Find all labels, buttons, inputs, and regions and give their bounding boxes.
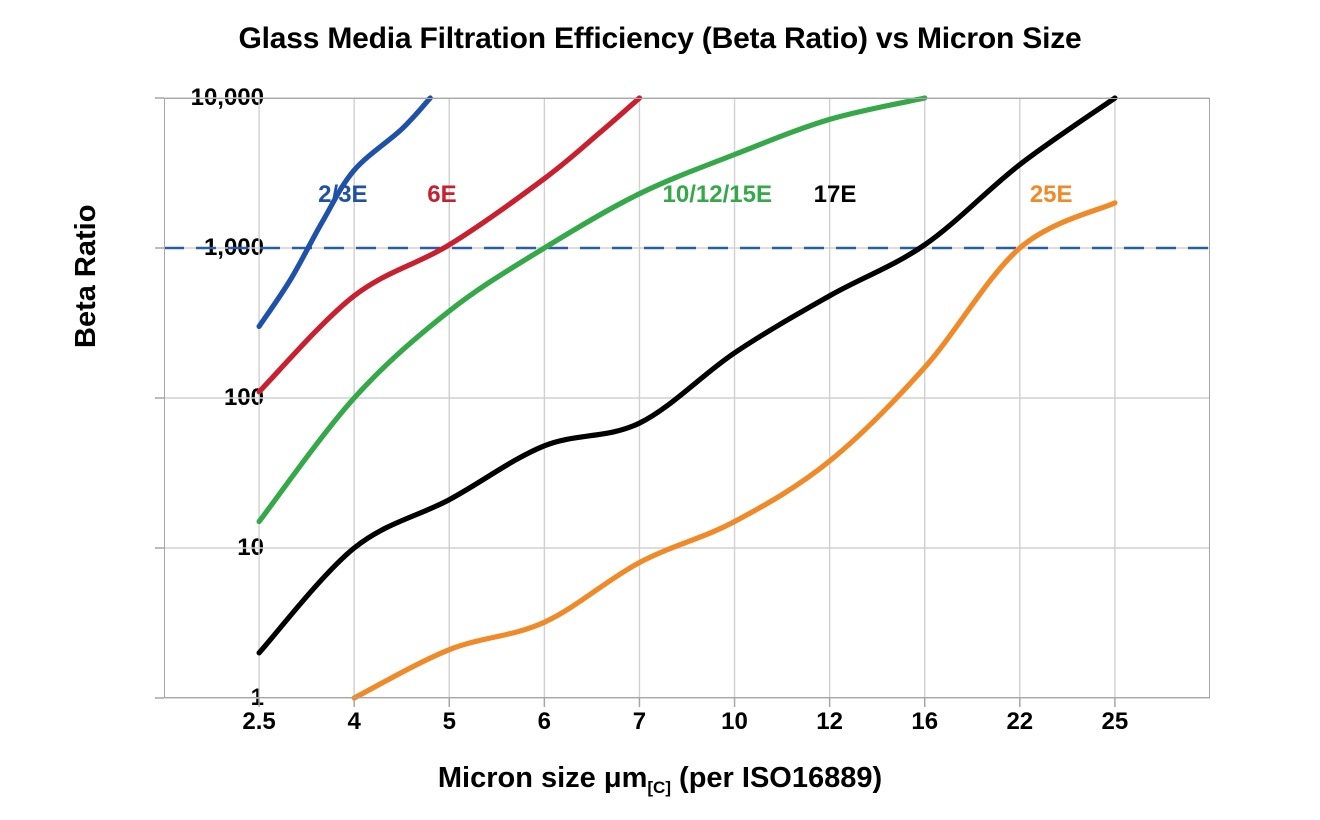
x-tick-label: 5 — [404, 710, 494, 734]
y-axis-title-wrap: Beta Ratio — [70, 348, 213, 381]
y-axis-title: Beta Ratio — [70, 205, 103, 348]
x-tick-label: 4 — [309, 710, 399, 734]
x-tick-label: 6 — [499, 710, 589, 734]
series-label-25E: 25E — [1030, 183, 1073, 207]
chart-root: Glass Media Filtration Efficiency (Beta … — [0, 0, 1320, 820]
x-axis-title: Micron size μm[C] (per ISO16889) — [0, 762, 1320, 798]
x-axis-title-subscript: [C] — [647, 778, 671, 797]
x-tick-label: 25 — [1070, 710, 1160, 734]
x-axis-tick-labels: 2.545671012162225 — [164, 710, 1210, 750]
x-axis-title-main: Micron size μm — [438, 762, 648, 794]
series-label-2-3E: 2/3E — [318, 183, 367, 207]
series-label-10-12-15E: 10/12/15E — [663, 183, 772, 207]
chart-title: Glass Media Filtration Efficiency (Beta … — [0, 22, 1320, 56]
series-label-6E: 6E — [427, 183, 456, 207]
x-tick-label: 7 — [594, 710, 684, 734]
x-tick-label: 16 — [880, 710, 970, 734]
x-tick-label: 2.5 — [214, 710, 304, 734]
x-tick-label: 22 — [975, 710, 1065, 734]
x-tick-label: 10 — [690, 710, 780, 734]
series-label-17E: 17E — [814, 183, 857, 207]
x-tick-label: 12 — [785, 710, 875, 734]
x-axis-title-tail: (per ISO16889) — [671, 762, 882, 794]
